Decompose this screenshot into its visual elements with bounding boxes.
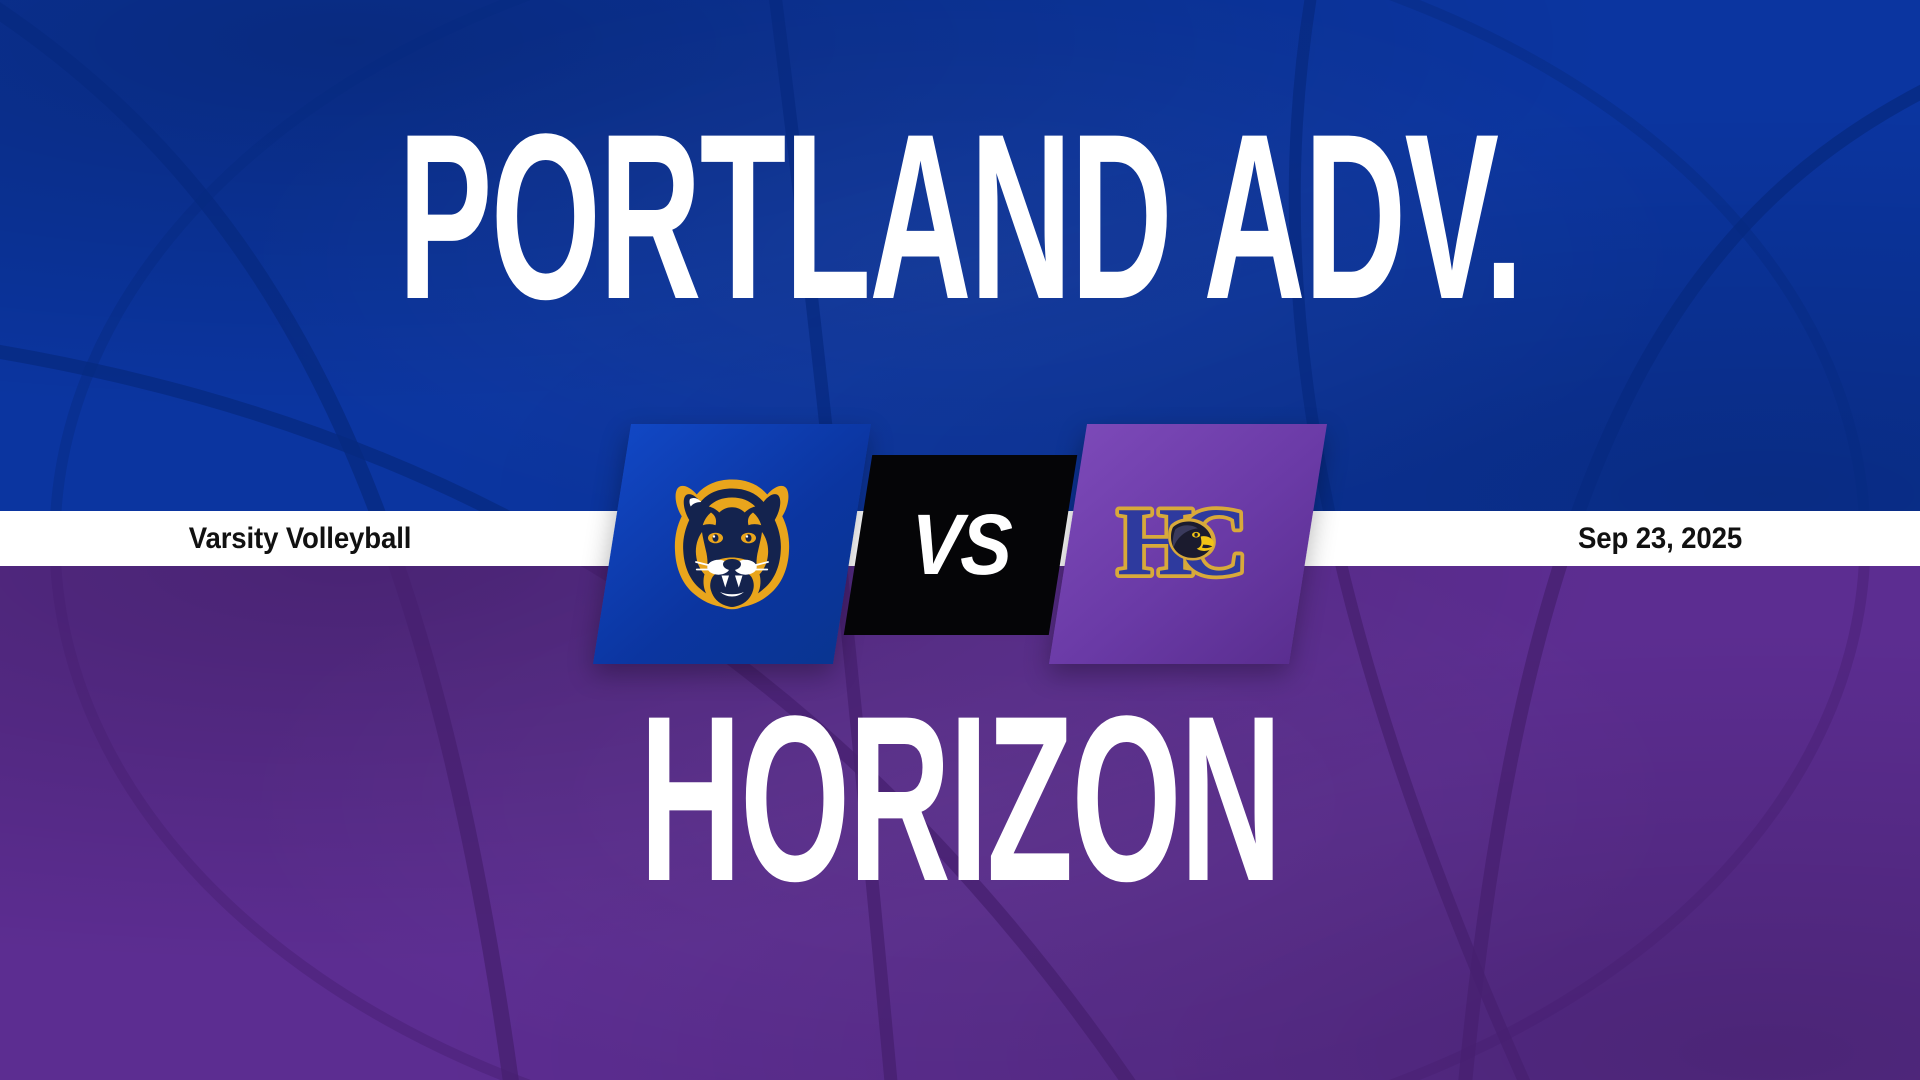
headline-opponent: HORIZON: [384, 700, 1536, 898]
matchup-graphic: PORTLAND ADV. HORIZON Varsity Volleyball…: [0, 0, 1920, 1080]
headline-winner: PORTLAND ADV.: [384, 118, 1536, 316]
sport-label: Varsity Volleyball: [24, 511, 576, 566]
date-label: Sep 23, 2025: [1421, 511, 1899, 566]
